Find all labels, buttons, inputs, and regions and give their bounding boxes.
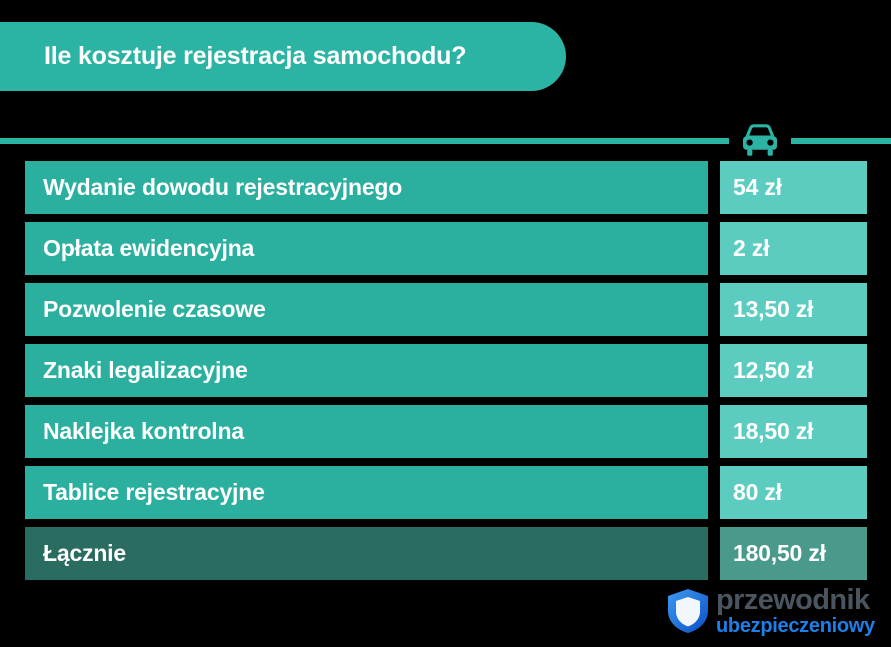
fee-label-text: Znaki legalizacyjne (25, 357, 248, 384)
fee-value-cell: 13,50 zł (720, 283, 867, 336)
fee-label-cell: Pozwolenie czasowe (25, 283, 708, 336)
total-value-text: 180,50 zł (720, 540, 826, 567)
fee-table: Wydanie dowodu rejestracyjnego 54 zł Opł… (25, 161, 867, 588)
fee-label-text: Pozwolenie czasowe (25, 296, 266, 323)
fee-value-cell: 80 zł (720, 466, 867, 519)
fee-label-cell: Znaki legalizacyjne (25, 344, 708, 397)
header-banner: Ile kosztuje rejestracja samochodu? (0, 22, 566, 91)
table-row: Tablice rejestracyjne 80 zł (25, 466, 867, 519)
page-title: Ile kosztuje rejestracja samochodu? (0, 42, 466, 71)
table-row: Pozwolenie czasowe 13,50 zł (25, 283, 867, 336)
logo-text: przewodnik ubezpieczeniowy (716, 586, 875, 636)
fee-value-text: 80 zł (720, 479, 782, 506)
table-row: Opłata ewidencyjna 2 zł (25, 222, 867, 275)
car-icon (736, 123, 784, 159)
fee-label-text: Naklejka kontrolna (25, 418, 244, 445)
fee-value-text: 18,50 zł (720, 418, 813, 445)
fee-label-cell: Opłata ewidencyjna (25, 222, 708, 275)
divider-line-right (791, 138, 891, 144)
fee-label-text: Opłata ewidencyjna (25, 235, 254, 262)
fee-value-text: 54 zł (720, 174, 782, 201)
table-row: Znaki legalizacyjne 12,50 zł (25, 344, 867, 397)
logo-line-przewodnik: przewodnik (716, 586, 875, 615)
total-label-cell: Łącznie (25, 527, 708, 580)
divider-line-left (0, 138, 729, 144)
fee-label-text: Tablice rejestracyjne (25, 479, 265, 506)
table-row: Naklejka kontrolna 18,50 zł (25, 405, 867, 458)
fee-value-cell: 54 zł (720, 161, 867, 214)
shield-icon (666, 588, 710, 634)
fee-label-cell: Tablice rejestracyjne (25, 466, 708, 519)
fee-value-text: 13,50 zł (720, 296, 813, 323)
logo: przewodnik ubezpieczeniowy (666, 586, 871, 636)
total-label-text: Łącznie (25, 540, 126, 567)
fee-label-cell: Naklejka kontrolna (25, 405, 708, 458)
table-row: Wydanie dowodu rejestracyjnego 54 zł (25, 161, 867, 214)
fee-value-text: 12,50 zł (720, 357, 813, 384)
fee-value-cell: 2 zł (720, 222, 867, 275)
fee-label-text: Wydanie dowodu rejestracyjnego (25, 174, 402, 201)
divider (0, 123, 891, 159)
fee-value-text: 2 zł (720, 235, 769, 262)
fee-label-cell: Wydanie dowodu rejestracyjnego (25, 161, 708, 214)
table-row-total: Łącznie 180,50 zł (25, 527, 867, 580)
fee-value-cell: 12,50 zł (720, 344, 867, 397)
logo-line-ubezpieczeniowy: ubezpieczeniowy (716, 616, 875, 636)
fee-value-cell: 18,50 zł (720, 405, 867, 458)
total-value-cell: 180,50 zł (720, 527, 867, 580)
